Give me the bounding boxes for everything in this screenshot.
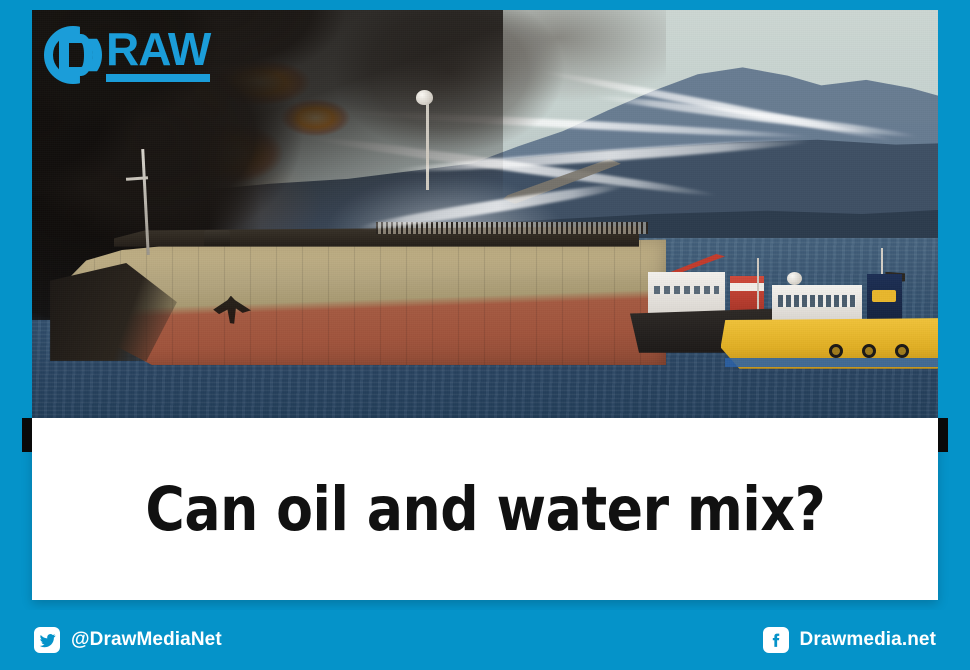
yellow-tugboat (721, 263, 938, 373)
tug-fender (829, 344, 843, 358)
tug-funnel (867, 274, 902, 320)
facebook-icon[interactable] (763, 627, 789, 653)
page-title: Can oil and water mix? (145, 474, 825, 545)
twitter-handle-group[interactable]: @DrawMediaNet (34, 627, 222, 653)
logo-word: RAW (106, 28, 210, 70)
logo-d-icon (44, 26, 102, 84)
brand-logo[interactable]: RAW (44, 26, 210, 84)
tug-fender (862, 344, 876, 358)
logo-wordmark: RAW (106, 28, 210, 81)
tanker-funnel (204, 230, 230, 246)
twitter-icon[interactable] (34, 627, 60, 653)
facebook-handle[interactable]: Drawmedia.net (800, 629, 936, 651)
tug-radome (787, 272, 802, 285)
footer-bar: @DrawMediaNet Drawmedia.net (0, 610, 970, 670)
radome (416, 90, 433, 105)
headline-card: Can oil and water mix? (32, 418, 938, 600)
facebook-handle-group[interactable]: Drawmedia.net (763, 627, 936, 653)
twitter-handle[interactable]: @DrawMediaNet (71, 629, 222, 651)
tug-wheelhouse (772, 285, 862, 322)
tug-mast (881, 248, 883, 277)
tug-fender (895, 344, 909, 358)
logo-d-bowl (67, 34, 93, 76)
antenna-mast (426, 100, 429, 190)
tug-stripe (725, 358, 938, 367)
vessel-superstructure (648, 272, 725, 313)
